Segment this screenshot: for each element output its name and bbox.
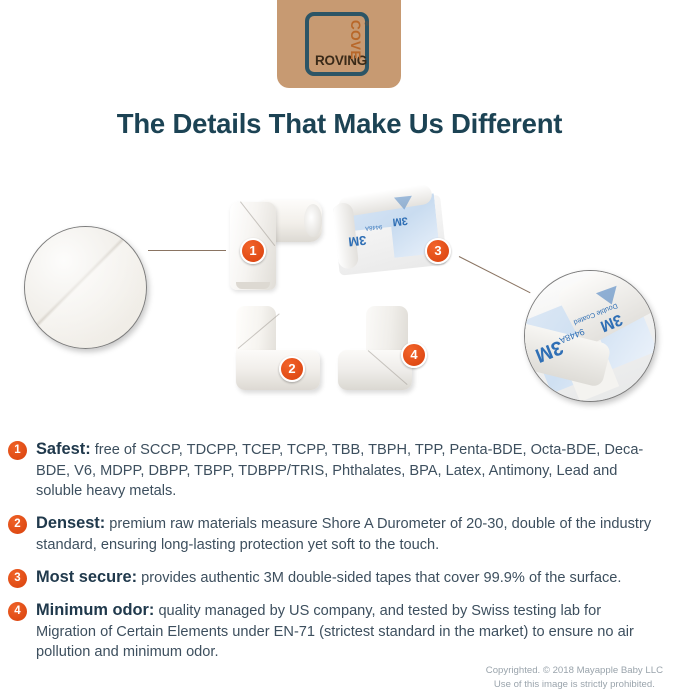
guard-arm-horizontal <box>236 350 320 390</box>
connector-line-right <box>459 256 531 293</box>
photo-badge-1: 1 <box>240 238 266 264</box>
logo-trademark-icon: ® <box>365 22 369 28</box>
magnifier-foam-surface <box>24 226 147 349</box>
feature-title-2: Densest: <box>36 514 105 532</box>
brand-logo: ROVING COVE ® <box>277 0 401 88</box>
tape-brand-label-b: 3M <box>392 214 408 228</box>
page-title: The Details That Make Us Different <box>0 108 679 140</box>
feature-body-1: free of SCCP, TDCPP, TCEP, TCPP, TBB, TB… <box>36 442 643 499</box>
feature-badge-1: 1 <box>8 441 27 460</box>
feature-text-1: Safest: free of SCCP, TDCPP, TCEP, TCPP,… <box>36 438 663 501</box>
feature-badge-4: 4 <box>8 602 27 621</box>
product-photo-stage: 1 2 3M 3M 9448A 3 4 3M 3M <box>0 178 679 423</box>
tape-brand-label-a: 3M <box>348 233 368 250</box>
feature-text-3: Most secure: provides authentic 3M doubl… <box>36 566 621 589</box>
feature-item-2: 2 Densest: premium raw materials measure… <box>0 512 679 555</box>
feature-title-1: Safest: <box>36 440 91 458</box>
feature-item-1: 1 Safest: free of SCCP, TDCPP, TCEP, TCP… <box>0 438 679 501</box>
magnifier-3m-tape: 3M 3M 9448A Double Coated <box>524 270 656 402</box>
feature-title-4: Minimum odor: <box>36 601 154 619</box>
feature-item-4: 4 Minimum odor: quality managed by US co… <box>0 599 679 662</box>
feature-title-3: Most secure: <box>36 568 137 586</box>
copyright-line-1: Copyrighted. © 2018 Mayapple Baby LLC <box>486 664 663 678</box>
connector-line-left <box>148 250 226 251</box>
copyright-line-2: Use of this image is strictly prohibited… <box>486 678 663 692</box>
photo-badge-3: 3 <box>425 238 451 264</box>
photo-badge-4: 4 <box>401 342 427 368</box>
product-photo-2 <box>224 306 326 392</box>
guard-foot <box>236 282 270 289</box>
feature-text-2: Densest: premium raw materials measure S… <box>36 512 663 555</box>
photo-badge-2: 2 <box>279 356 305 382</box>
feature-body-3: provides authentic 3M double-sided tapes… <box>141 570 621 586</box>
feature-item-3: 3 Most secure: provides authentic 3M dou… <box>0 566 679 589</box>
tape-zoom-scene: 3M 3M 9448A Double Coated <box>525 271 655 401</box>
feature-body-2: premium raw materials measure Shore A Du… <box>36 516 651 553</box>
guard-end-cap <box>304 204 322 237</box>
copyright-notice: Copyrighted. © 2018 Mayapple Baby LLC Us… <box>486 664 663 692</box>
logo-tile: ROVING COVE ® <box>277 0 401 88</box>
logo-text-cove: COVE <box>349 20 363 60</box>
feature-list: 1 Safest: free of SCCP, TDCPP, TCEP, TCP… <box>0 438 679 673</box>
logo-frame: ROVING COVE ® <box>305 12 369 76</box>
product-photo-3: 3M 3M 9448A <box>331 184 452 287</box>
feature-badge-3: 3 <box>8 569 27 588</box>
feature-badge-2: 2 <box>8 515 27 534</box>
tape-triangle-icon <box>394 196 413 211</box>
feature-text-4: Minimum odor: quality managed by US comp… <box>36 599 663 662</box>
